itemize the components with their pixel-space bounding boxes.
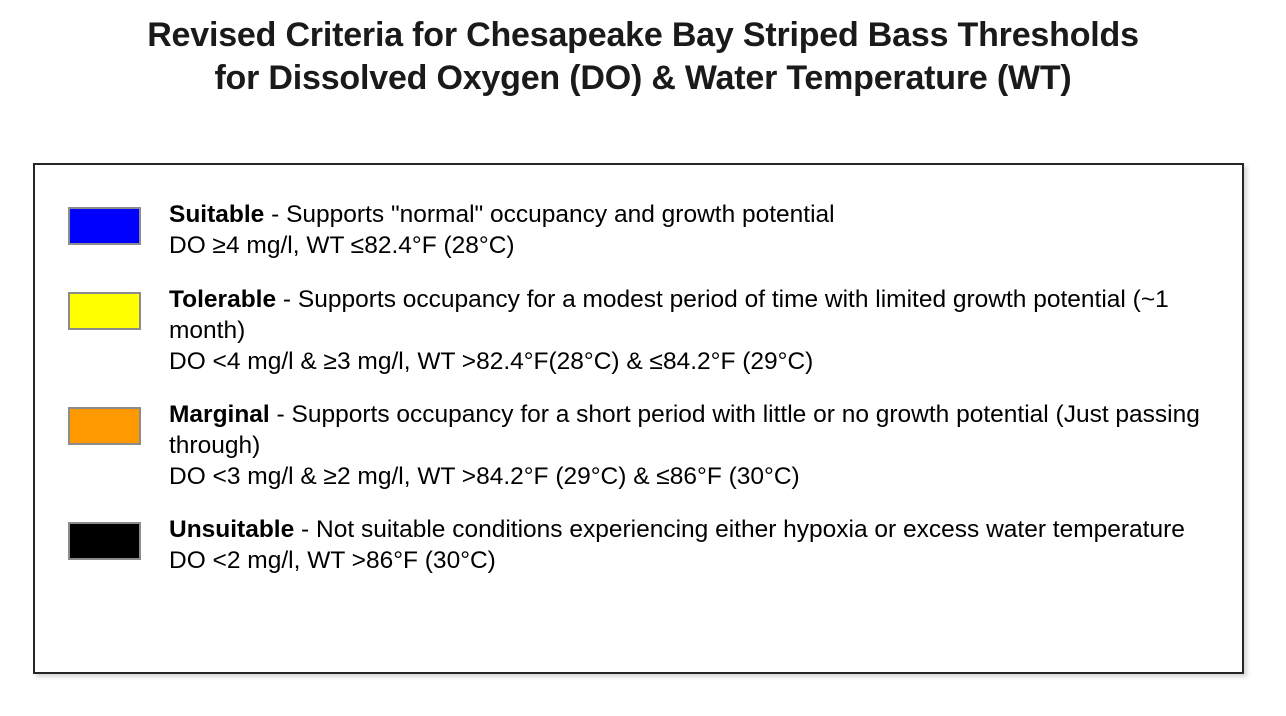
legend-term-unsuitable: Unsuitable <box>169 516 294 543</box>
swatch-cell-unsuitable <box>68 514 169 560</box>
legend-text-marginal: Marginal - Supports occupancy for a shor… <box>169 399 1224 492</box>
legend-criteria-suitable: DO ≥4 mg/l, WT ≤82.4°F (28°C) <box>169 230 1224 261</box>
color-swatch-yellow <box>68 292 141 330</box>
legend-item-marginal: Marginal - Supports occupancy for a shor… <box>35 399 1242 492</box>
legend-text-suitable: Suitable - Supports "normal" occupancy a… <box>169 199 1224 261</box>
legend-term-tolerable: Tolerable <box>169 286 276 313</box>
legend-desc-tolerable: Supports occupancy for a modest period o… <box>169 286 1169 344</box>
legend-desc-unsuitable: Not suitable conditions experiencing eit… <box>316 516 1185 543</box>
color-swatch-blue <box>68 207 141 245</box>
swatch-cell-marginal <box>68 399 169 445</box>
color-swatch-orange <box>68 407 141 445</box>
swatch-cell-tolerable <box>68 284 169 330</box>
page-title-line-2: for Dissolved Oxygen (DO) & Water Temper… <box>0 57 1286 100</box>
page-title-line-1: Revised Criteria for Chesapeake Bay Stri… <box>0 14 1286 57</box>
legend-item-unsuitable: Unsuitable - Not suitable conditions exp… <box>35 514 1242 576</box>
legend-separator-suitable: - <box>264 201 286 228</box>
legend-text-unsuitable: Unsuitable - Not suitable conditions exp… <box>169 514 1224 576</box>
legend-list: Suitable - Supports "normal" occupancy a… <box>35 165 1242 576</box>
legend-desc-suitable: Supports "normal" occupancy and growth p… <box>286 201 835 228</box>
legend-description-tolerable: Tolerable - Supports occupancy for a mod… <box>169 284 1224 346</box>
swatch-cell-suitable <box>68 199 169 245</box>
criteria-legend-panel: Suitable - Supports "normal" occupancy a… <box>33 163 1244 674</box>
legend-text-tolerable: Tolerable - Supports occupancy for a mod… <box>169 284 1224 377</box>
legend-separator-tolerable: - <box>276 286 298 313</box>
legend-criteria-tolerable: DO <4 mg/l & ≥3 mg/l, WT >82.4°F(28°C) &… <box>169 346 1224 377</box>
legend-separator-marginal: - <box>270 401 292 428</box>
legend-item-suitable: Suitable - Supports "normal" occupancy a… <box>35 199 1242 261</box>
legend-separator-unsuitable: - <box>294 516 316 543</box>
page-title: Revised Criteria for Chesapeake Bay Stri… <box>0 14 1286 100</box>
legend-criteria-marginal: DO <3 mg/l & ≥2 mg/l, WT >84.2°F (29°C) … <box>169 461 1224 492</box>
legend-item-tolerable: Tolerable - Supports occupancy for a mod… <box>35 284 1242 377</box>
legend-term-suitable: Suitable <box>169 201 264 228</box>
color-swatch-black <box>68 522 141 560</box>
legend-desc-marginal: Supports occupancy for a short period wi… <box>169 401 1200 459</box>
legend-description-unsuitable: Unsuitable - Not suitable conditions exp… <box>169 514 1224 545</box>
legend-term-marginal: Marginal <box>169 401 270 428</box>
legend-description-marginal: Marginal - Supports occupancy for a shor… <box>169 399 1224 461</box>
legend-description-suitable: Suitable - Supports "normal" occupancy a… <box>169 199 1224 230</box>
legend-criteria-unsuitable: DO <2 mg/l, WT >86°F (30°C) <box>169 545 1224 576</box>
